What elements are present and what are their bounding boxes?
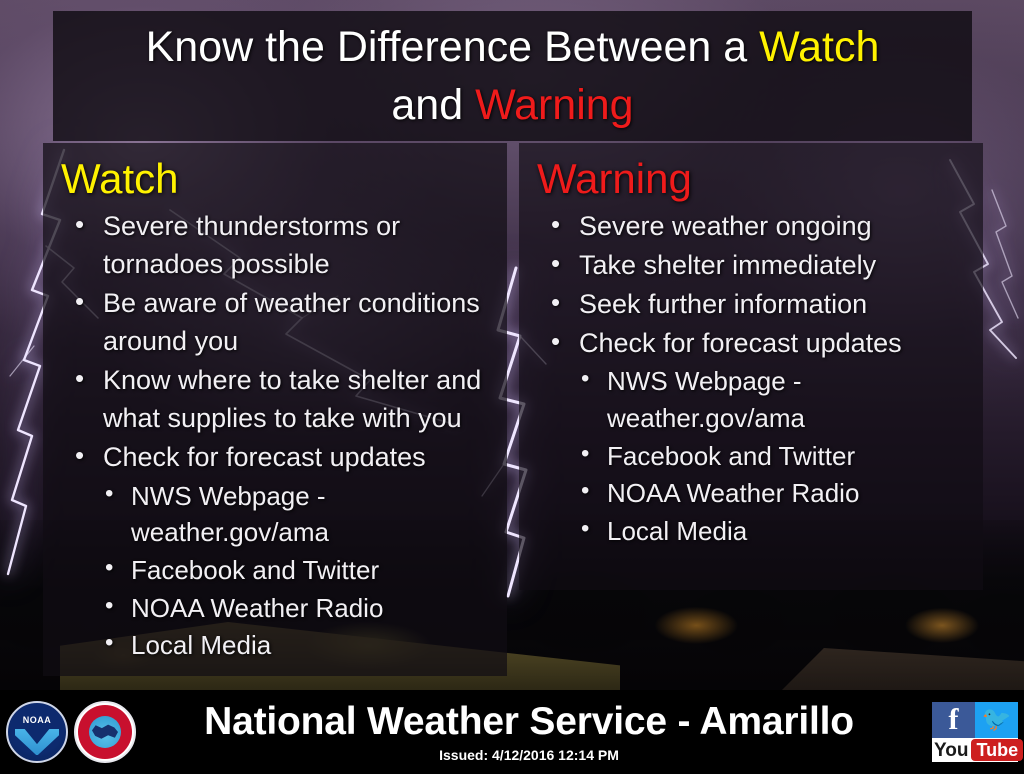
agency-logos: NOAA	[0, 701, 136, 763]
warning-sub-bullet-4: Local Media	[573, 513, 973, 550]
weather-infographic-slide: Know the Difference Between a Watch and …	[0, 0, 1024, 774]
watch-heading: Watch	[61, 157, 497, 201]
facebook-icon[interactable]: f	[932, 702, 975, 738]
warning-bullet-1: Severe weather ongoing	[541, 207, 973, 245]
twitter-icon[interactable]: 🐦	[975, 702, 1018, 738]
noaa-logo-icon: NOAA	[6, 701, 68, 763]
warning-bullet-4: Check for forecast updates	[541, 324, 973, 362]
footer-bar: NOAA National Weather Service - Amarillo…	[0, 690, 1024, 774]
youtube-icon[interactable]: You Tube	[932, 738, 1018, 762]
warning-heading: Warning	[537, 157, 973, 201]
nws-logo-map-shape	[92, 724, 118, 740]
warning-sub-bullet-3: NOAA Weather Radio	[573, 475, 973, 512]
footer-title-block: National Weather Service - Amarillo Issu…	[136, 702, 932, 763]
nws-logo-icon	[74, 701, 136, 763]
watch-bullet-2: Be aware of weather conditions around yo…	[65, 284, 497, 360]
title-warning-word: Warning	[475, 81, 634, 129]
title-line-1-plain: Know the Difference Between a	[146, 23, 760, 71]
warning-sub-bullet-list: NWS Webpage - weather.gov/ama Facebook a…	[527, 363, 973, 549]
noaa-logo-label: NOAA	[8, 715, 66, 725]
title-banner: Know the Difference Between a Watch and …	[53, 11, 972, 141]
warning-panel: Warning Severe weather ongoing Take shel…	[519, 143, 983, 590]
title-line-1: Know the Difference Between a Watch	[146, 18, 880, 76]
nws-logo-ring	[78, 705, 132, 759]
watch-bullet-4: Check for forecast updates	[65, 438, 497, 476]
noaa-seabird-shape	[15, 729, 59, 755]
nws-logo-inner	[89, 716, 121, 748]
warning-sub-bullet-1: NWS Webpage - weather.gov/ama	[573, 363, 973, 436]
warning-bullet-2: Take shelter immediately	[541, 246, 973, 284]
office-title: National Weather Service - Amarillo	[204, 702, 854, 741]
youtube-you-text: You	[934, 741, 968, 760]
social-media-icons: f 🐦 You Tube	[932, 702, 1018, 762]
warning-bullet-list: Severe weather ongoing Take shelter imme…	[527, 207, 973, 362]
warning-bullet-3: Seek further information	[541, 285, 973, 323]
watch-panel: Watch Severe thunderstorms or tornadoes …	[43, 143, 507, 676]
title-line-2: and Warning	[391, 76, 633, 134]
youtube-tube-text: Tube	[971, 739, 1023, 761]
watch-sub-bullet-list: NWS Webpage - weather.gov/ama Facebook a…	[51, 478, 497, 664]
watch-bullet-1: Severe thunderstorms or tornadoes possib…	[65, 207, 497, 283]
watch-sub-bullet-1: NWS Webpage - weather.gov/ama	[97, 478, 497, 551]
title-watch-word: Watch	[759, 23, 879, 71]
watch-sub-bullet-3: NOAA Weather Radio	[97, 590, 497, 627]
warning-sub-bullet-2: Facebook and Twitter	[573, 438, 973, 475]
watch-bullet-3: Know where to take shelter and what supp…	[65, 361, 497, 437]
watch-bullet-list: Severe thunderstorms or tornadoes possib…	[51, 207, 497, 476]
issued-timestamp: Issued: 4/12/2016 12:14 PM	[439, 747, 619, 763]
watch-sub-bullet-4: Local Media	[97, 627, 497, 664]
title-line-2-plain: and	[391, 81, 475, 129]
watch-sub-bullet-2: Facebook and Twitter	[97, 552, 497, 589]
